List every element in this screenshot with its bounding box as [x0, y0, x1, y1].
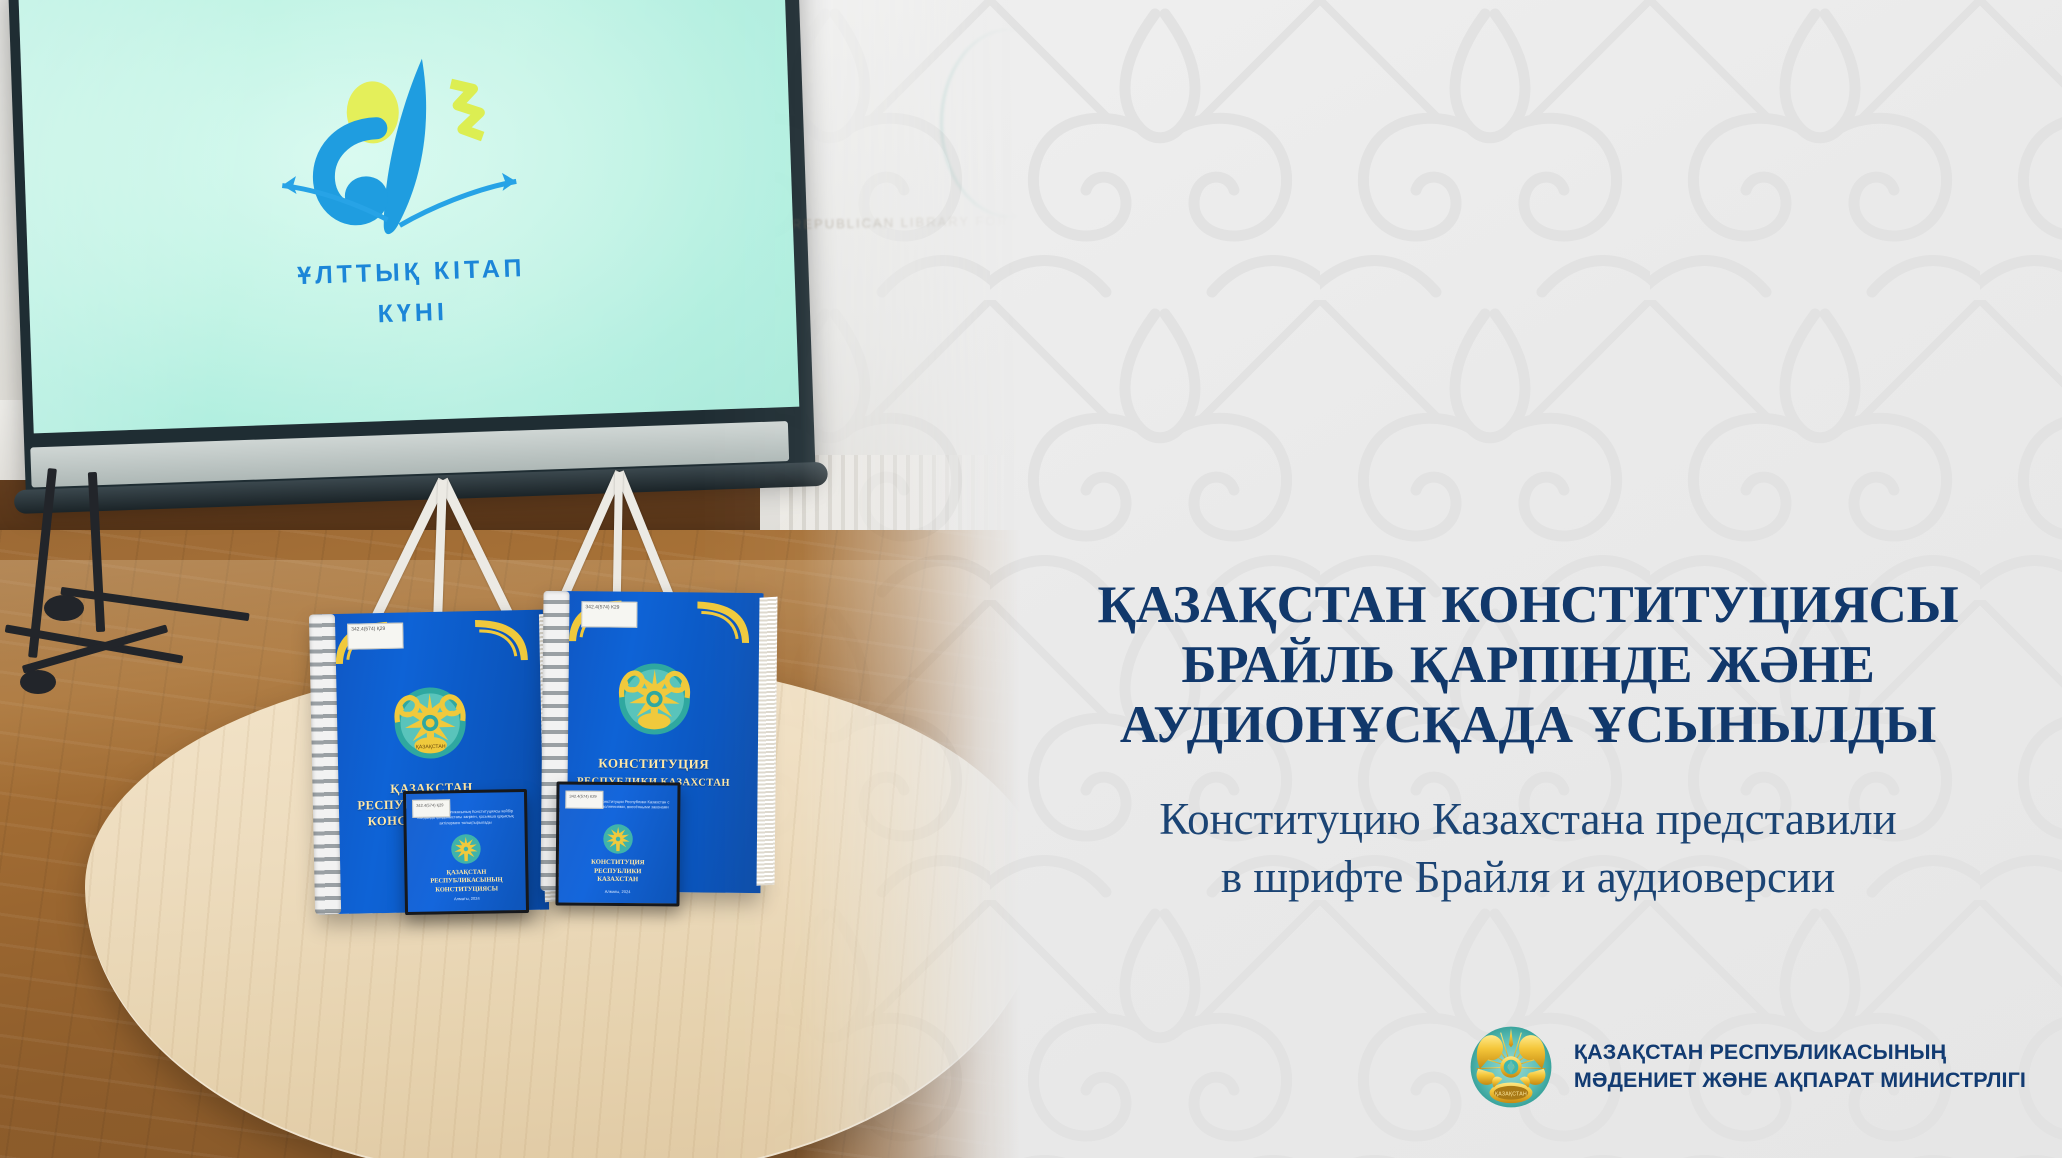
projector-caption-line2: КҮНІ — [377, 298, 448, 328]
ministry-name: ҚАЗАҚСТАН РЕСПУБЛИКАСЫНЫҢ МӘДЕНИЕТ ЖӘНЕ … — [1574, 1039, 2026, 1095]
state-emblem-icon — [450, 833, 483, 866]
headline-line-2: БРАЙЛЬ ҚАРПІНДЕ ЖӘНЕ — [1030, 636, 2026, 696]
projector-caption-line1: ҰЛТТЫҚ КІТАП — [297, 254, 526, 290]
ministry-name-line-2: МӘДЕНИЕТ ЖӘНЕ АҚПАРАТ МИНИСТРЛІГІ — [1574, 1067, 2026, 1095]
disc-title-line-2: РЕСПУБЛИКАСЫНЫҢ — [430, 877, 502, 885]
disc-title-line-3: КОНСТИТУЦИЯСЫ — [435, 885, 498, 893]
headline-line-1: ҚАЗАҚСТАН КОНСТИТУЦИЯСЫ — [1030, 576, 2026, 636]
headline-kazakh: ҚАЗАҚСТАН КОНСТИТУЦИЯСЫ БРАЙЛЬ ҚАРПІНДЕ … — [1030, 576, 2026, 756]
library-label-tag: 342.4(574) К29 — [565, 791, 603, 809]
state-emblem-icon — [602, 823, 634, 855]
book-pages — [757, 597, 778, 886]
headline-line-3: АУДИОНҰСҚАДА ҰСЫНЫЛДЫ — [1030, 696, 2026, 756]
ministry-name-line-1: ҚАЗАҚСТАН РЕСПУБЛИКАСЫНЫҢ — [1574, 1039, 2026, 1067]
state-emblem-icon: ҚАЗАҚСТАН — [392, 685, 468, 761]
kazakhstan-state-emblem-icon: ҚАЗАҚСТАН — [1468, 1024, 1554, 1110]
event-photo: ҰЛТТЫҚ КІТАП КҮНІ — [0, 0, 1020, 1158]
disc-title-line-1: КОНСТИТУЦИЯ — [591, 859, 644, 866]
event-announcement-banner: ҰЛТТЫҚ КІТАП КҮНІ — [0, 0, 2062, 1158]
library-label-tag: 342.4(574) Қ29 — [412, 799, 450, 818]
disc-footer: Алматы, 2024 — [408, 895, 526, 902]
disc-title-line-2: РЕСПУБЛИКИ — [594, 867, 641, 874]
library-label-tag: 342.4(574) Қ29 — [347, 623, 404, 650]
disc-title-line-3: КАЗАХСТАН — [597, 876, 638, 883]
subtitle-line-1: Конституцию Казахстана представили — [1030, 790, 2026, 849]
disc-footer: Алматы, 2024 — [559, 888, 677, 894]
microphone-stand-base-2 — [20, 670, 56, 694]
audio-disc-case-kazakh: Қазақстан Республикасының Конституциясы … — [403, 789, 529, 915]
microphone-stand-base — [44, 595, 84, 621]
svg-text:ҚАЗАҚСТАН: ҚАЗАҚСТАН — [1495, 1091, 1527, 1097]
state-emblem-icon — [617, 662, 692, 737]
subtitle-line-2: в шрифте Брайля и аудиоверсии — [1030, 848, 2026, 907]
ornament-corner-icon-right — [471, 616, 530, 665]
audio-disc-case-russian: Настоящий текст Конституции Республики К… — [555, 781, 680, 906]
disc-title-line-1: ҚАЗАҚСТАН — [446, 869, 486, 877]
ministry-lockup: ҚАЗАҚСТАН ҚАЗАҚСТАН РЕСПУБЛИКАСЫНЫҢ МӘДЕ… — [1468, 1024, 2026, 1110]
banner-text-content: ҚАЗАҚСТАН КОНСТИТУЦИЯСЫ БРАЙЛЬ ҚАРПІНДЕ … — [1010, 0, 2062, 1158]
book-title-line-1: КОНСТИТУЦИЯ — [598, 755, 709, 771]
ornament-corner-icon-right — [693, 598, 751, 647]
library-label-tag: 342.4(574) К29 — [581, 601, 637, 628]
subtitle-russian: Конституцию Казахстана представили в шри… — [1030, 790, 2026, 907]
projector-screen: ҰЛТТЫҚ КІТАП КҮНІ — [8, 0, 816, 502]
projection-surface: ҰЛТТЫҚ КІТАП КҮНІ — [18, 0, 799, 433]
svg-text:ҚАЗАҚСТАН: ҚАЗАҚСТАН — [416, 744, 446, 751]
